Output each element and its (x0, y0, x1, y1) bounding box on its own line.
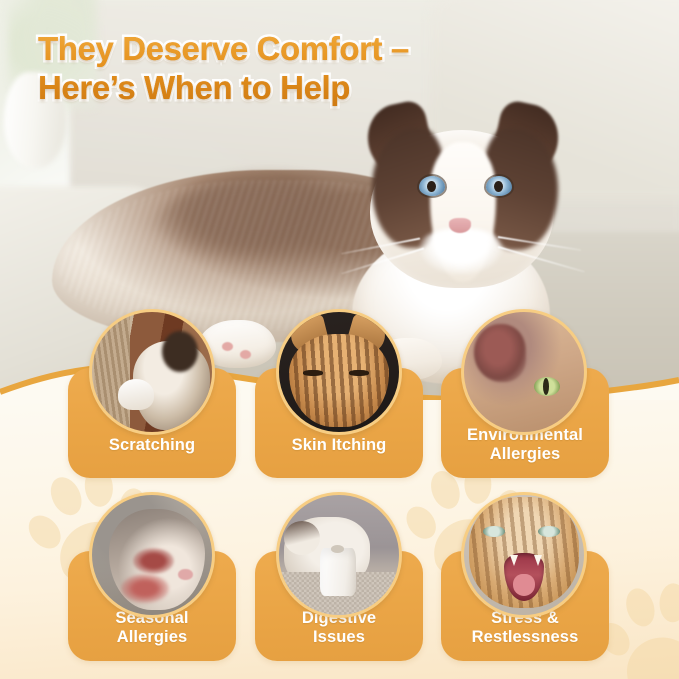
thumb-scratching[interactable] (89, 309, 215, 435)
page-title-outline: They Deserve Comfort – Here’s When to He… (38, 29, 638, 107)
cat-toe-bean (222, 342, 233, 351)
thumb-environmental-allergies[interactable] (461, 309, 587, 435)
cat-toe-bean (240, 350, 251, 359)
card-label: Scratching (68, 436, 236, 455)
thumb-seasonal-allergies[interactable] (89, 492, 215, 618)
thumb-skin-itching[interactable] (276, 309, 402, 435)
cat-pupil-right (494, 181, 503, 192)
card-label: Skin Itching (255, 436, 423, 455)
thumb-digestive-issues[interactable] (276, 492, 402, 618)
cat-pupil-left (427, 181, 436, 192)
poster-canvas: Scratching Skin Itching Environmental Al… (0, 0, 679, 679)
thumb-stress-restlessness[interactable] (461, 492, 587, 618)
